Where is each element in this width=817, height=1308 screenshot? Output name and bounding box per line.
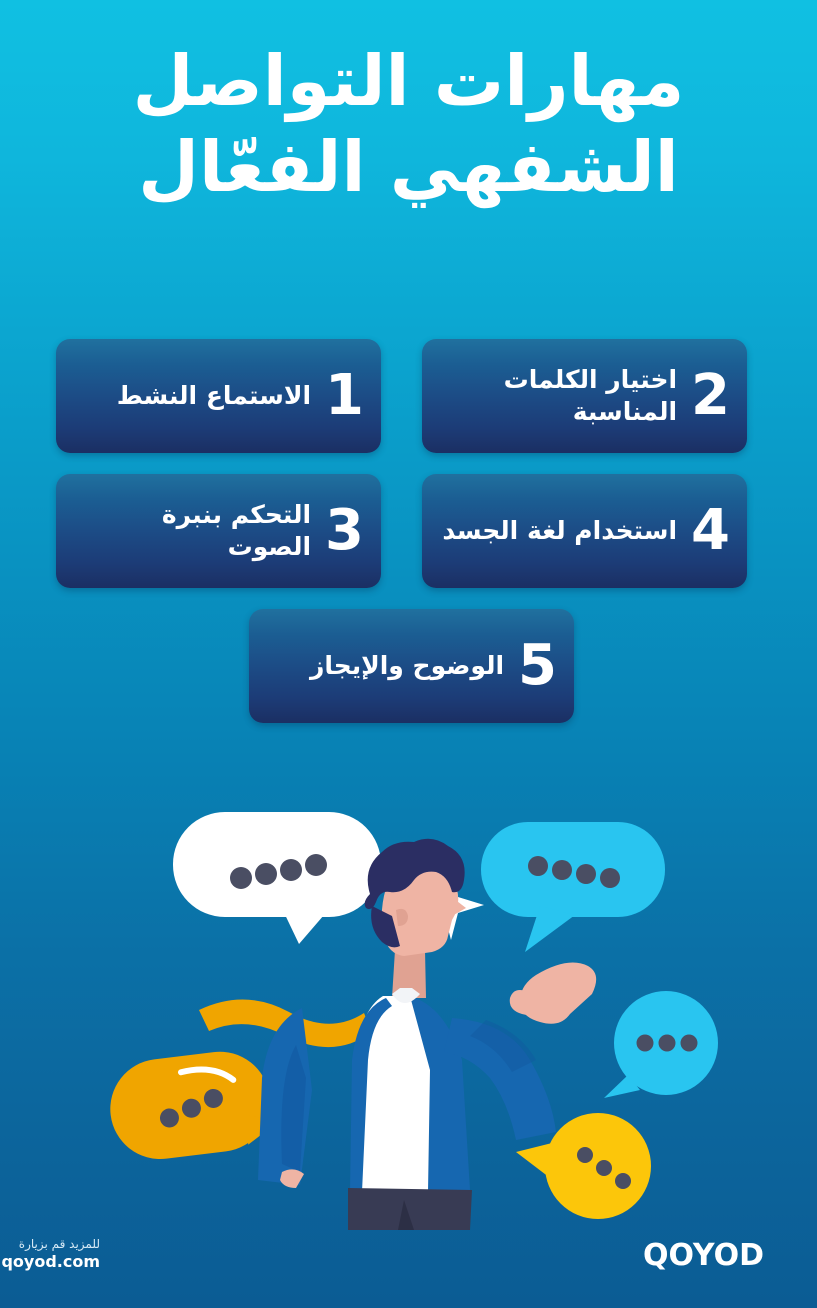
skill-card-2-number: 2	[691, 368, 729, 424]
title-line-2: الشفهي الفعّال	[50, 132, 767, 202]
cyan-small-dot	[637, 1035, 654, 1052]
skill-card-3-label: التحكم بنبرة الصوت	[70, 499, 311, 563]
skill-card-5-label: الوضوح والإيجاز	[263, 650, 504, 682]
skill-card-1-label: الاستماع النشط	[70, 380, 311, 412]
character-hand-pocket	[280, 1169, 304, 1188]
white-bubble-dot	[305, 854, 327, 876]
skill-card-2-label: اختيار الكلمات المناسبة	[436, 364, 677, 428]
white-bubble	[173, 812, 381, 944]
infographic-poster: مهارات التواصل الشفهي الفعّال 1 الاستماع…	[0, 0, 817, 1308]
yellow-bubble-dot	[615, 1173, 631, 1189]
skill-card-5-number: 5	[518, 638, 556, 694]
yellow-bubble-dot	[577, 1147, 593, 1163]
footer-text-block: للمزيد قم بزيارة qoyod.com	[0, 1236, 100, 1273]
illustration	[0, 760, 817, 1230]
white-bubble-dot	[255, 863, 277, 885]
title-line-1: مهارات التواصل	[50, 46, 767, 116]
white-bubble-dot	[280, 859, 302, 881]
skill-card-2[interactable]: 2 اختيار الكلمات المناسبة	[422, 339, 747, 453]
cyan-bubble-dot	[576, 864, 596, 884]
cyan-small-dot	[681, 1035, 698, 1052]
skill-card-4-label: استخدام لغة الجسد	[436, 515, 677, 547]
cyan-bubble-dot	[528, 856, 548, 876]
skill-card-4[interactable]: 4 استخدام لغة الجسد	[422, 474, 747, 588]
white-bubble-dot	[230, 867, 252, 889]
yellow-bubble-dot	[596, 1160, 612, 1176]
skill-card-1[interactable]: 1 الاستماع النشط	[56, 339, 381, 453]
cyan-bubble-dot	[552, 860, 572, 880]
footer-arabic-text: للمزيد قم بزيارة	[0, 1236, 100, 1252]
qoyod-logo: QOYOD	[643, 1238, 764, 1273]
cyan-bubble-large	[481, 822, 665, 952]
skill-card-1-number: 1	[325, 368, 363, 424]
orange-bubble	[105, 1045, 283, 1165]
skill-card-3[interactable]: 3 التحكم بنبرة الصوت	[56, 474, 381, 588]
skill-card-3-number: 3	[325, 503, 363, 559]
cyan-small-dot	[659, 1035, 676, 1052]
footer-url[interactable]: qoyod.com	[0, 1252, 100, 1273]
cyan-bubble-dot	[600, 868, 620, 888]
skill-card-4-number: 4	[691, 503, 729, 559]
cyan-bubble-small	[604, 991, 718, 1098]
page-title: مهارات التواصل الشفهي الفعّال	[0, 46, 817, 202]
skill-card-5[interactable]: 5 الوضوح والإيجاز	[249, 609, 574, 723]
